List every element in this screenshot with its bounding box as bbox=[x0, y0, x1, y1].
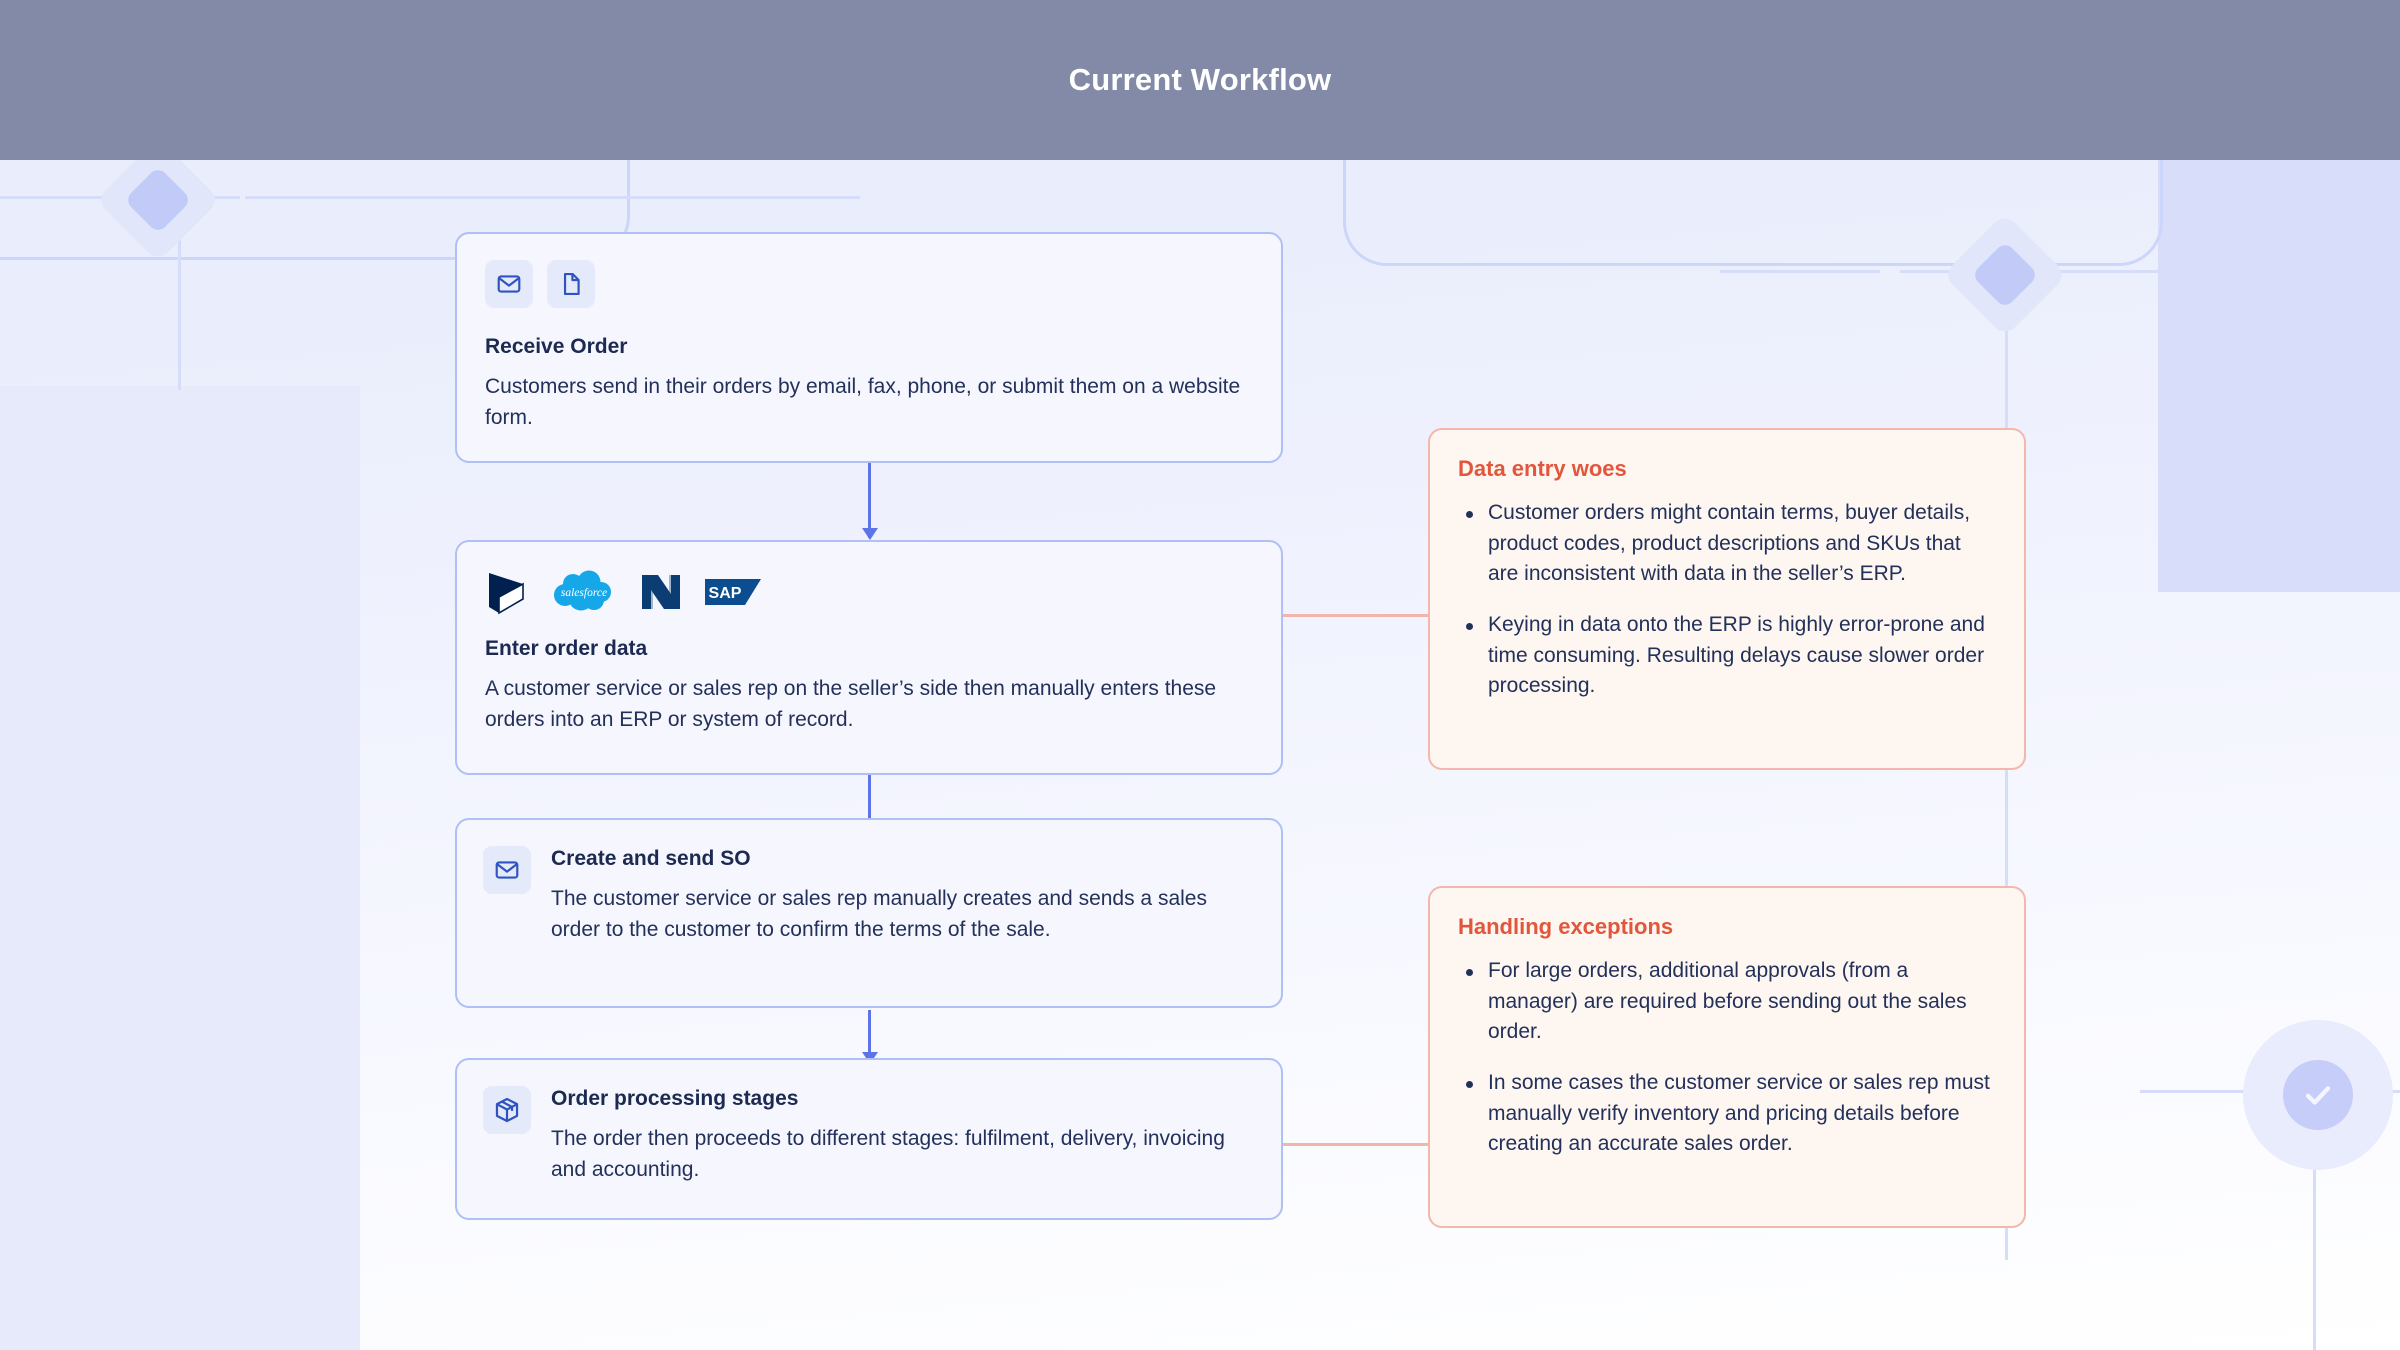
flow-card-create-send-so[interactable]: Create and send SO The customer service … bbox=[455, 818, 1283, 1008]
list-item: For large orders, additional approvals (… bbox=[1458, 956, 1994, 1048]
decor-hline-right-b bbox=[1720, 270, 1880, 273]
page-title: Current Workflow bbox=[1069, 62, 1332, 98]
netsuite-logo bbox=[639, 569, 683, 615]
document-icon bbox=[547, 260, 595, 308]
flow-card-receive-order[interactable]: Receive Order Customers send in their or… bbox=[455, 232, 1283, 463]
decor-hline-left-b bbox=[245, 196, 860, 199]
connector-line-data-entry bbox=[1282, 614, 1428, 617]
decor-right-panel bbox=[2158, 160, 2400, 592]
card-title: Create and send SO bbox=[551, 846, 1253, 872]
mail-icon bbox=[483, 846, 531, 894]
decor-hline-check-left bbox=[2140, 1090, 2210, 1093]
icon-row bbox=[485, 260, 1253, 308]
sap-logo: SAP bbox=[705, 575, 761, 609]
microsoft-dynamics-logo bbox=[485, 569, 529, 615]
sap-wordmark: SAP bbox=[709, 585, 742, 602]
flow-arrow-1 bbox=[868, 462, 871, 538]
callout-handling-exceptions[interactable]: Handling exceptions For large orders, ad… bbox=[1428, 886, 2026, 1228]
callout-title: Data entry woes bbox=[1458, 456, 1994, 482]
card-body: The customer service or sales rep manual… bbox=[551, 884, 1253, 945]
flow-card-order-processing-stages[interactable]: Order processing stages The order then p… bbox=[455, 1058, 1283, 1220]
card-body: A customer service or sales rep on the s… bbox=[485, 674, 1253, 735]
list-item: Keying in data onto the ERP is highly er… bbox=[1458, 610, 1994, 702]
decor-left-panel bbox=[0, 386, 360, 1350]
erp-logo-row: salesforce SAP bbox=[485, 568, 1253, 616]
list-item: Customer orders might contain terms, buy… bbox=[1458, 498, 1994, 590]
salesforce-logo: salesforce bbox=[551, 569, 617, 615]
connector-line-exceptions bbox=[1282, 1143, 1428, 1146]
flow-card-enter-order-data[interactable]: salesforce SAP Enter order data A custom… bbox=[455, 540, 1283, 775]
card-body: The order then proceeds to different sta… bbox=[551, 1124, 1253, 1185]
card-title: Enter order data bbox=[485, 636, 1253, 662]
background-canvas: Receive Order Customers send in their or… bbox=[0, 0, 2400, 1350]
callout-data-entry-woes[interactable]: Data entry woes Customer orders might co… bbox=[1428, 428, 2026, 770]
card-body: Customers send in their orders by email,… bbox=[485, 372, 1253, 433]
card-title: Receive Order bbox=[485, 334, 1253, 360]
callout-list: Customer orders might contain terms, buy… bbox=[1458, 498, 1994, 702]
card-title: Order processing stages bbox=[551, 1086, 1253, 1112]
page-header: Current Workflow bbox=[0, 0, 2400, 160]
mail-icon bbox=[485, 260, 533, 308]
decor-check-circle bbox=[2283, 1060, 2353, 1130]
callout-title: Handling exceptions bbox=[1458, 914, 1994, 940]
decor-vline-check-down bbox=[2313, 1150, 2316, 1350]
list-item: In some cases the customer service or sa… bbox=[1458, 1068, 1994, 1160]
check-icon bbox=[2298, 1075, 2338, 1115]
salesforce-wordmark: salesforce bbox=[561, 587, 607, 599]
decor-diamond-right bbox=[1945, 215, 2065, 335]
package-icon bbox=[483, 1086, 531, 1134]
flow-arrow-3 bbox=[868, 1010, 871, 1062]
callout-list: For large orders, additional approvals (… bbox=[1458, 956, 1994, 1160]
